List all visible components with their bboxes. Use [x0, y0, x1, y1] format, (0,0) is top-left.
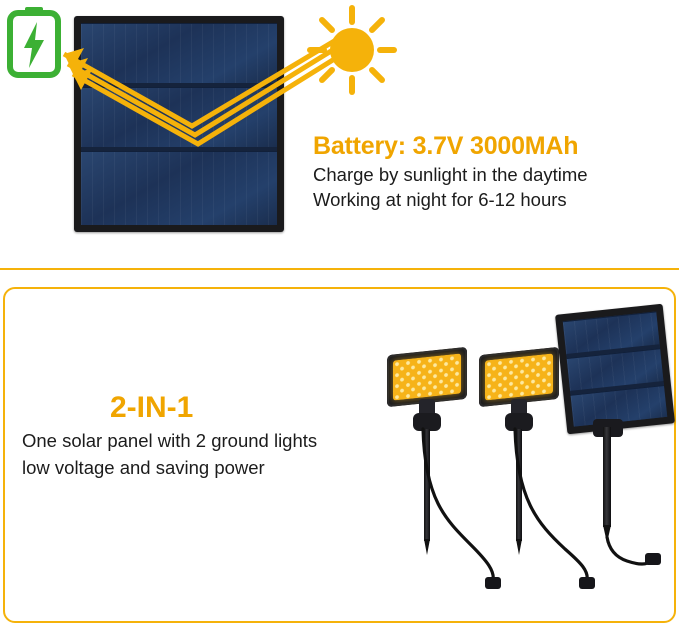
solar-panel-with-stake-image: [555, 304, 675, 435]
battery-line-1: Charge by sunlight in the daytime: [313, 162, 673, 187]
ground-light-2-image: [475, 351, 567, 581]
battery-heading: Battery: 3.7V 3000MAh: [313, 130, 673, 162]
bottom-text-block: 2-IN-1 One solar panel with 2 ground lig…: [18, 389, 408, 481]
battery-line-2: Working at night for 6-12 hours: [313, 187, 673, 212]
infographic-page: Battery: 3.7V 3000MAh Charge by sunlight…: [0, 0, 679, 629]
section-divider: [0, 268, 679, 270]
top-feature-panel: Battery: 3.7V 3000MAh Charge by sunlight…: [0, 0, 679, 270]
bottom-feature-panel: 2-IN-1 One solar panel with 2 ground lig…: [3, 287, 676, 623]
two-in-one-line-1: One solar panel with 2 ground lights: [22, 427, 408, 454]
sunlight-arrows-icon: [40, 18, 360, 148]
product-group-image: [375, 309, 670, 599]
two-in-one-heading: 2-IN-1: [110, 389, 408, 427]
two-in-one-line-2: low voltage and saving power: [22, 454, 408, 481]
ground-light-1-image: [383, 351, 475, 581]
top-text-block: Battery: 3.7V 3000MAh Charge by sunlight…: [313, 130, 673, 212]
